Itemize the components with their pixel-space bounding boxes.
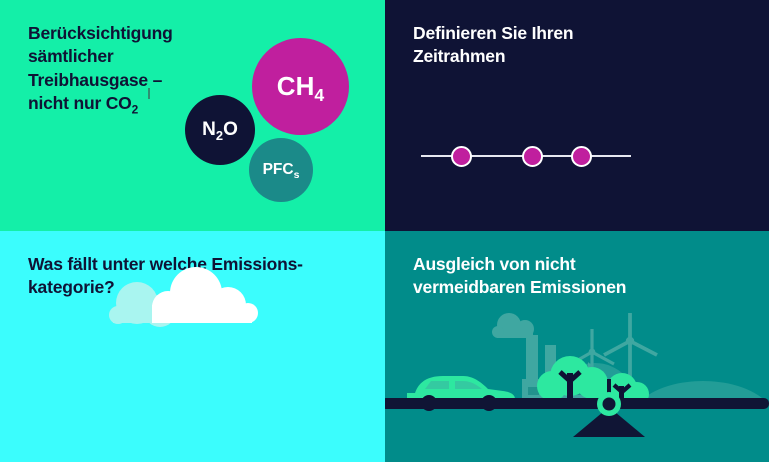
timeline-milestone-2 bbox=[522, 146, 543, 167]
pfcs-bubble: PFCs bbox=[249, 138, 313, 202]
pivot-circle-inner bbox=[603, 398, 616, 411]
panel-offset: Ausgleich von nicht vermeidbaren Emissio… bbox=[385, 231, 769, 462]
pfcs-formula-main: PFC bbox=[263, 161, 294, 178]
nitrous-oxide-formula-tail: O bbox=[223, 119, 238, 140]
panel-ghg-headline-subscript: 2 bbox=[132, 102, 138, 116]
timeline-milestone-1 bbox=[451, 146, 472, 167]
methane-bubble: CH4 bbox=[252, 38, 349, 135]
wind-turbine-small-hub bbox=[589, 349, 596, 356]
timeline-milestone-3 bbox=[571, 146, 592, 167]
nitrous-oxide-bubble: N2O bbox=[185, 95, 255, 165]
nitrous-oxide-formula-sub: 2 bbox=[216, 128, 223, 143]
smoke-cloud-icon bbox=[492, 313, 534, 338]
panel-ghg-headline-text: Berücksichtigung sämtlicher Treibhausgas… bbox=[28, 23, 173, 113]
panel-scopes: Was fällt unter welche Emissions- katego… bbox=[0, 231, 385, 462]
balance-beam bbox=[385, 398, 769, 409]
nitrous-oxide-formula-main: N bbox=[202, 119, 216, 140]
panel-timeframe-headline: Definieren Sie Ihren Zeitrahmen bbox=[413, 22, 643, 69]
cloud-decoration-group bbox=[0, 231, 385, 462]
pfcs-formula-sub: s bbox=[294, 169, 300, 181]
panel-ghg-headline: Berücksichtigung sämtlicher Treibhausgas… bbox=[28, 22, 218, 115]
wind-turbine-hub bbox=[626, 337, 634, 345]
co2-tick-artifact bbox=[148, 88, 150, 99]
cloud-white-icon bbox=[152, 267, 258, 323]
pfcs-formula: PFCs bbox=[263, 161, 300, 179]
methane-formula-sub: 4 bbox=[314, 85, 324, 105]
panel-timeframe: Definieren Sie Ihren Zeitrahmen 2050 bbox=[385, 0, 769, 231]
methane-formula: CH4 bbox=[277, 71, 324, 102]
infographic-grid: Berücksichtigung sämtlicher Treibhausgas… bbox=[0, 0, 769, 462]
methane-formula-main: CH bbox=[277, 71, 315, 101]
balance-scene bbox=[385, 231, 769, 462]
panel-greenhouse-gases: Berücksichtigung sämtlicher Treibhausgas… bbox=[0, 0, 385, 231]
nitrous-oxide-formula: N2O bbox=[202, 119, 238, 141]
